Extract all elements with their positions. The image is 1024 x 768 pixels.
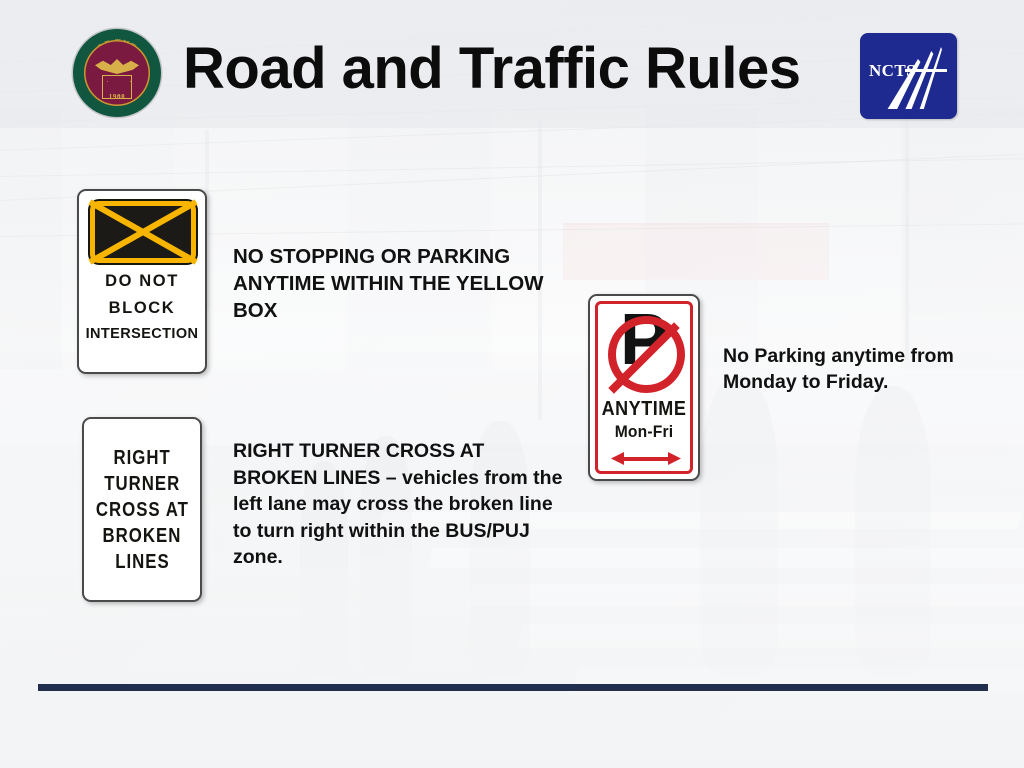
yellow-box-cross-icon	[90, 201, 196, 263]
sign-line-1: RIGHT	[113, 448, 170, 468]
sign-line-1: DO NOT	[79, 272, 205, 291]
sign-line-anytime: ANYTIME	[595, 398, 692, 421]
sign-line-2: BLOCK	[79, 299, 205, 318]
sign-line-5: LINES	[115, 552, 170, 572]
sign-line-2: TURNER	[104, 474, 180, 494]
caption-no-parking: No Parking anytime from Monday to Friday…	[723, 343, 963, 395]
ncts-wordmark: NCTS	[869, 61, 916, 81]
sign-text-block: DO NOT BLOCK INTERSECTION	[79, 272, 205, 342]
arrow-head-right	[668, 452, 681, 465]
seal-eagle-icon	[95, 59, 139, 74]
sign-no-parking-anytime-mon-fri: P ANYTIME Mon-Fri	[588, 294, 700, 481]
sign-right-turner-cross-at-broken-lines: RIGHT TURNER CROSS AT BROKEN LINES	[82, 417, 202, 602]
arrow-head-left	[611, 452, 624, 465]
sign-line-3: CROSS AT	[95, 500, 188, 520]
sign-line-mon-fri: Mon-Fri	[594, 422, 693, 442]
university-of-the-philippines-seal: OF THE UNIVERSITY PHILIPPINES 1908	[73, 29, 161, 117]
caption-yellow-box: NO STOPPING OR PARKING ANYTIME WITHIN TH…	[233, 243, 573, 324]
bottom-divider	[38, 684, 988, 691]
sign-line-3: INTERSECTION	[79, 326, 205, 342]
caption-right-turner: RIGHT TURNER CROSS AT BROKEN LINES – veh…	[233, 438, 568, 571]
sign-line-4: BROKEN	[103, 526, 182, 546]
seal-inner-disc: 1908	[84, 40, 150, 106]
slide-canvas: OF THE UNIVERSITY PHILIPPINES 1908 Road …	[0, 0, 1024, 768]
ncts-logo: NCTS	[860, 33, 957, 119]
sign-do-not-block-intersection: DO NOT BLOCK INTERSECTION	[77, 189, 207, 374]
page-title: Road and Traffic Rules	[183, 40, 800, 98]
arrow-shaft	[621, 457, 671, 461]
seal-year: 1908	[109, 93, 125, 101]
double-headed-arrow-icon	[611, 451, 681, 465]
sign-text-block: RIGHT TURNER CROSS AT BROKEN LINES	[84, 419, 200, 600]
